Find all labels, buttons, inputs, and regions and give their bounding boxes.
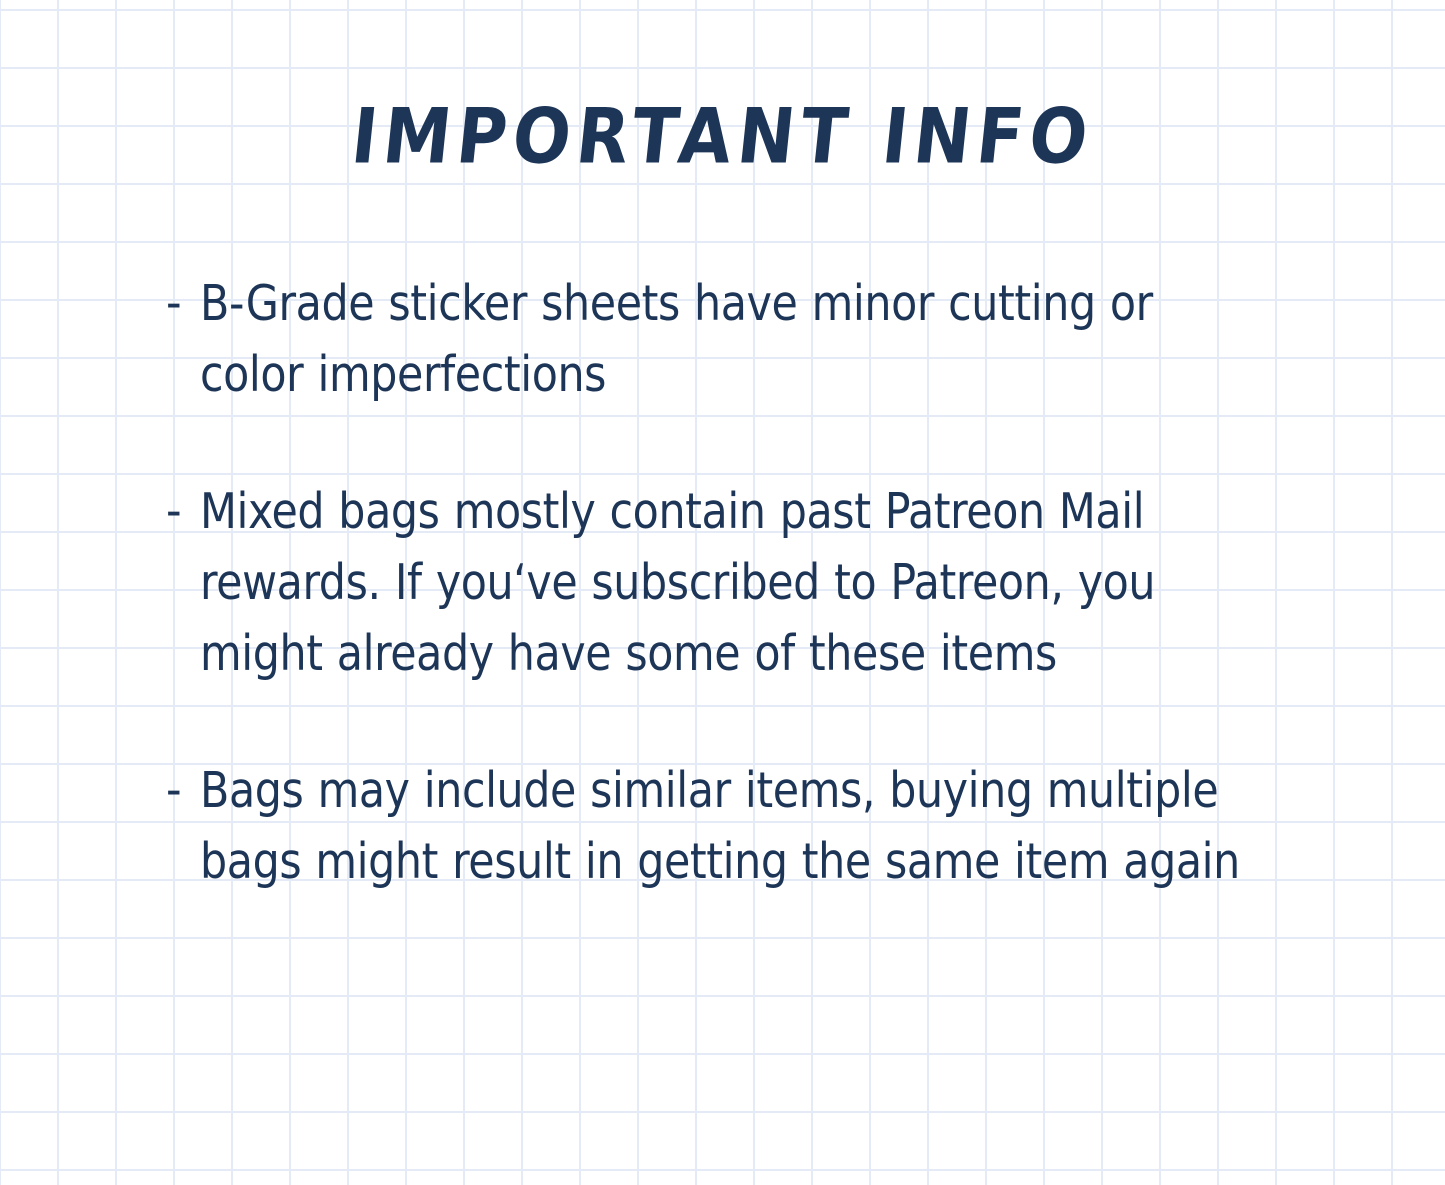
info-bullet-list: - B-Grade sticker sheets have minor cutt… (166, 268, 1296, 897)
page-title-container: IMPORTANT INFO (0, 104, 1445, 172)
list-item-text: B-Grade sticker sheets have minor cuttin… (200, 268, 1263, 410)
bullet-dash-icon: - (166, 268, 200, 339)
list-item-text: Mixed bags mostly contain past Patreon M… (200, 476, 1263, 689)
important-info-card: IMPORTANT INFO - B-Grade sticker sheets … (0, 0, 1445, 1185)
list-item: - Mixed bags mostly contain past Patreon… (166, 476, 1296, 689)
bullet-dash-icon: - (166, 476, 200, 547)
page-title: IMPORTANT INFO (348, 100, 1097, 176)
list-item-text: Bags may include similar items, buying m… (200, 755, 1263, 897)
list-item: - Bags may include similar items, buying… (166, 755, 1296, 897)
bullet-dash-icon: - (166, 755, 200, 826)
list-item: - B-Grade sticker sheets have minor cutt… (166, 268, 1296, 410)
